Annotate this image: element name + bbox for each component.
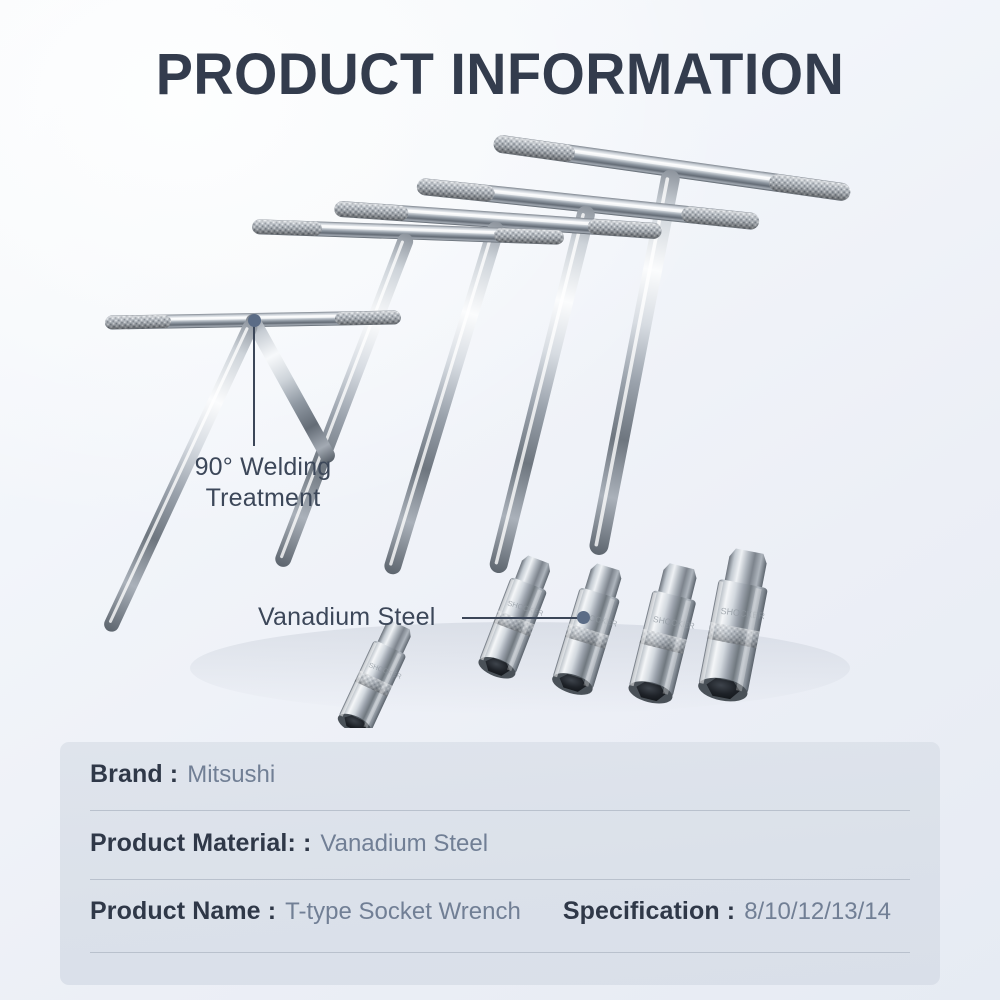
spec-row-name-specification: Product Name : T-type Socket Wrench Spec… xyxy=(90,897,910,926)
spec-value-brand: Mitsushi xyxy=(187,761,275,789)
product-hero-image: SHOCKER xyxy=(0,108,1000,728)
spec-divider-3 xyxy=(90,952,910,953)
product-information-page: PRODUCT INFORMATION xyxy=(0,0,1000,1000)
spec-divider-2 xyxy=(90,879,910,880)
spec-label-product-name: Product Name : xyxy=(90,897,276,926)
page-title: PRODUCT INFORMATION xyxy=(20,46,980,104)
welding-marker-dot xyxy=(248,314,261,327)
callout-vanadium-steel: Vanadium Steel xyxy=(258,602,435,633)
vanadium-leader-line xyxy=(462,617,584,619)
spec-label-specification: Specification : xyxy=(563,897,735,926)
vanadium-marker-dot xyxy=(577,611,590,624)
spec-value-product-name: T-type Socket Wrench xyxy=(285,898,521,926)
specification-panel: Brand : Mitsushi Product Material: : Van… xyxy=(60,742,940,985)
callout-welding-treatment: 90° Welding Treatment xyxy=(148,452,378,513)
spec-value-specification: 8/10/12/13/14 xyxy=(744,898,891,926)
spec-row-brand: Brand : Mitsushi xyxy=(90,760,910,789)
welding-leader-line xyxy=(253,322,255,446)
spec-row-material: Product Material: : Vanadium Steel xyxy=(90,829,910,858)
spec-value-material: Vanadium Steel xyxy=(320,830,488,858)
spec-label-material: Product Material: : xyxy=(90,829,311,858)
spec-label-brand: Brand : xyxy=(90,760,178,789)
spec-divider-1 xyxy=(90,810,910,811)
spec-specification-group: Specification : 8/10/12/13/14 xyxy=(563,897,891,926)
